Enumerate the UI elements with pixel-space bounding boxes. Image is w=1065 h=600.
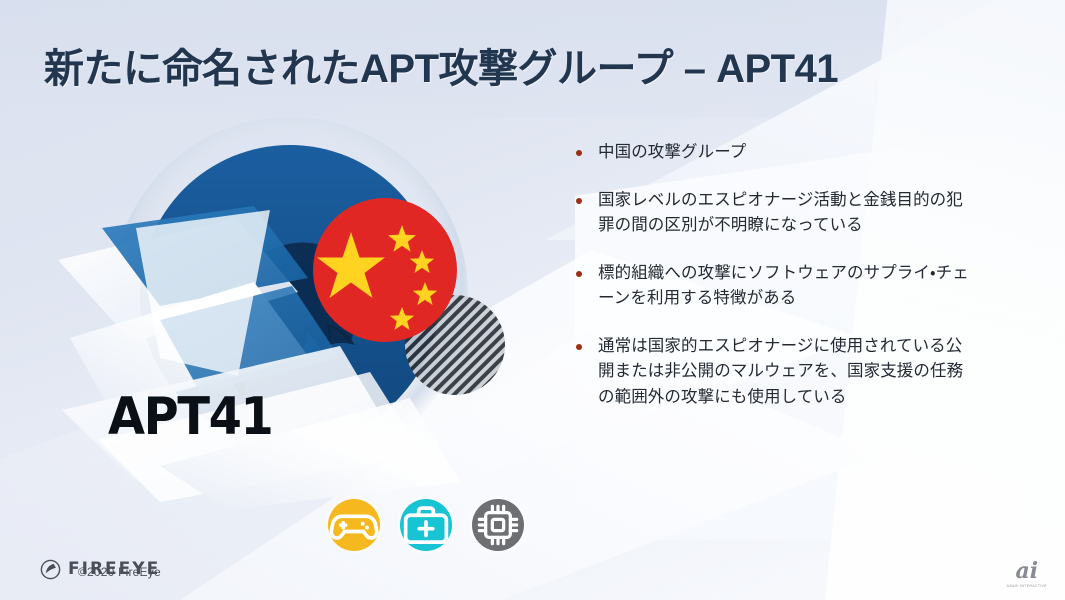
list-item: 中国の攻撃グループ <box>576 140 976 166</box>
watermark-text: ai <box>1007 560 1047 582</box>
apt41-artwork: APT41 <box>40 110 560 510</box>
gamepad-icon <box>328 499 380 551</box>
bullet-marker-icon <box>576 198 582 204</box>
publisher-watermark: ai ASAHI INTERACTIVE <box>1007 560 1047 588</box>
bullet-text: 通常は国家的エスピオナージに使用されている公開または非公開のマルウェアを、国家支… <box>598 334 976 411</box>
bullet-marker-icon <box>576 344 582 350</box>
slide-title: 新たに命名されたAPT攻撃グループ – APT41 <box>44 36 838 94</box>
list-item: 通常は国家的エスピオナージに使用されている公開または非公開のマルウェアを、国家支… <box>576 334 976 411</box>
medical-bag-icon <box>400 499 452 551</box>
fireeye-mark-icon <box>40 559 61 580</box>
copyright-text: ©2020 FireEye <box>78 565 161 579</box>
bullet-marker-icon <box>576 150 582 156</box>
bullet-marker-icon <box>576 271 582 277</box>
slide-canvas: 新たに命名されたAPT攻撃グループ – APT41 <box>0 0 1065 600</box>
bullet-list: 中国の攻撃グループ 国家レベルのエスピオナージ活動と金銭目的の犯罪の間の区別が不… <box>576 140 976 411</box>
list-item: 国家レベルのエスピオナージ活動と金銭目的の犯罪の間の区別が不明瞭になっている <box>576 188 976 239</box>
watermark-subtext: ASAHI INTERACTIVE <box>1007 584 1047 588</box>
bullet-text: 国家レベルのエスピオナージ活動と金銭目的の犯罪の間の区別が不明瞭になっている <box>598 188 976 239</box>
apt41-wordmark: APT41 <box>108 391 272 443</box>
bullet-text: 標的組織への攻撃にソフトウェアのサプライ・チェーンを利用する特徴がある <box>598 261 976 312</box>
bullet-text: 中国の攻撃グループ <box>598 140 746 166</box>
china-flag-icon <box>313 198 457 342</box>
list-item: 標的組織への攻撃にソフトウェアのサプライ・チェーンを利用する特徴がある <box>576 261 976 312</box>
cpu-chip-icon <box>472 499 524 551</box>
